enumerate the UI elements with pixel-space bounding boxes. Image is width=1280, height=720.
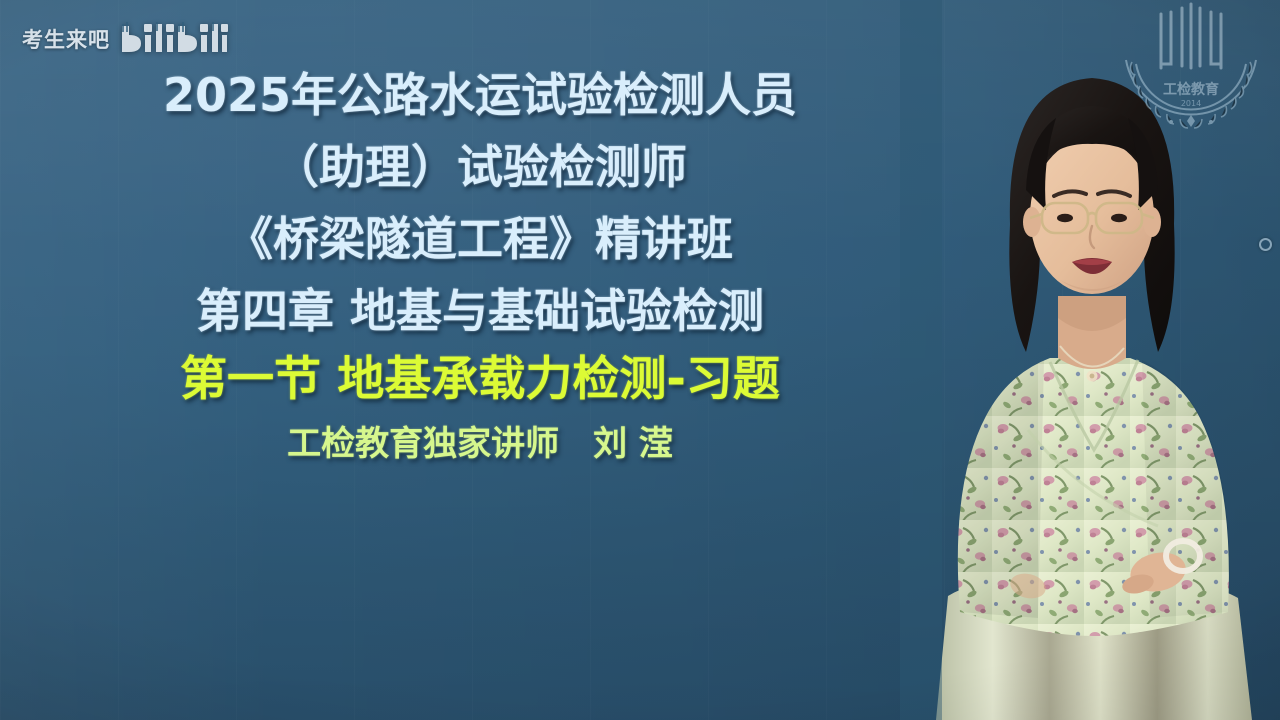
video-frame: 2025年公路水运试验检测人员 （助理）试验检测师 《桥梁隧道工程》精讲班 第四… <box>0 0 1280 720</box>
title-line-4-chapter: 第四章 地基与基础试验检测 <box>0 288 960 334</box>
backdrop-accent-dot <box>1259 238 1272 251</box>
channel-name-text: 考生来吧 <box>22 24 110 54</box>
slide-title-block: 2025年公路水运试验检测人员 （助理）试验检测师 《桥梁隧道工程》精讲班 第四… <box>0 72 960 461</box>
title-line-5-section-highlight: 第一节 地基承载力检测-习题 <box>0 356 960 403</box>
title-line-1: 2025年公路水运试验检测人员 <box>0 72 960 118</box>
channel-watermark: 考生来吧 <box>22 22 228 56</box>
title-line-3: 《桥梁隧道工程》精讲班 <box>0 216 960 262</box>
instructor-credit-line: 工检教育独家讲师 刘 滢 <box>0 427 960 461</box>
bilibili-logo <box>120 22 228 56</box>
title-line-2: （助理）试验检测师 <box>0 144 960 190</box>
